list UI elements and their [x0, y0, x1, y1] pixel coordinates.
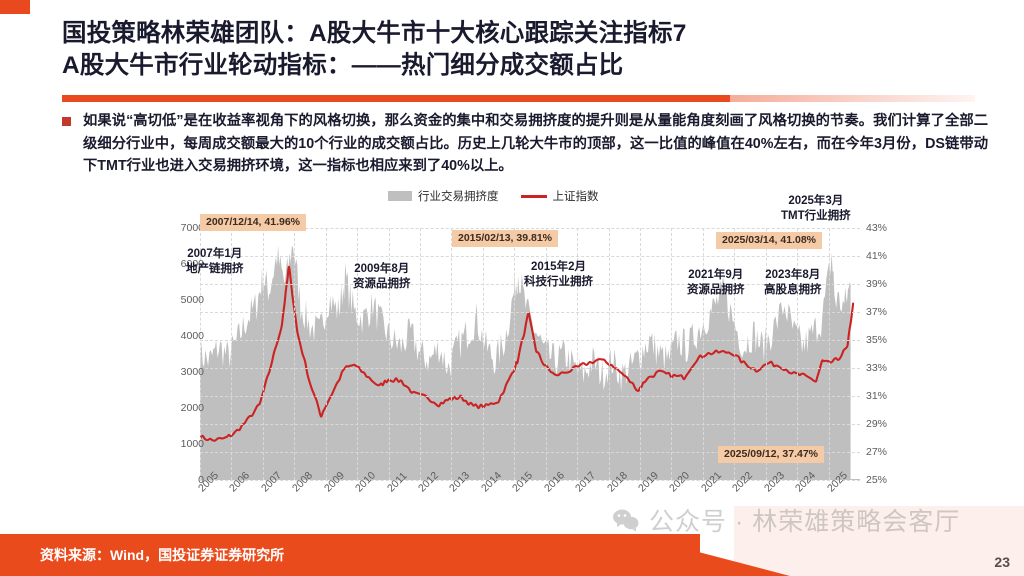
chart-annotation-label: 2023年8月高股息拥挤 — [764, 268, 822, 298]
gridline-vertical — [420, 228, 421, 480]
gridline-vertical — [671, 228, 672, 480]
legend-label-area: 行业交易拥挤度 — [418, 188, 499, 204]
top-bar-accent — [0, 0, 30, 14]
chart-legend: 行业交易拥挤度 上证指数 — [388, 188, 599, 204]
chart-annotation-label: 2025年3月TMT行业拥挤 — [781, 194, 851, 224]
chart-annotation-line1: 2025年3月 — [781, 194, 851, 209]
slide-root: 国投策略林荣雄团队：A股大牛市十大核心跟踪关注指标7 A股大牛市行业轮动指标：—… — [0, 0, 1024, 576]
y-axis-left-tick: 1000 — [158, 438, 204, 450]
wechat-icon — [612, 508, 640, 532]
body-paragraph-text: 如果说“高切低”是在收益率视角下的风格切换，那么资金的集中和交易拥挤度的提升则是… — [83, 110, 988, 178]
title-line-1: 国投策略林荣雄团队：A股大牛市十大核心跟踪关注指标7 — [62, 18, 962, 50]
y-axis-right-tick: 39% — [866, 278, 912, 290]
wechat-icon-glyph — [612, 508, 640, 532]
chart-annotation-line2: 资源品拥挤 — [353, 277, 411, 292]
y-axis-left-tick: 3000 — [158, 366, 204, 378]
y-axis-right-tick: 41% — [866, 250, 912, 262]
title-underline — [62, 95, 730, 102]
legend-line-swatch-icon — [521, 195, 547, 198]
gridline-horizontal — [200, 340, 860, 341]
chart-annotation-label: 2015年2月科技行业拥挤 — [524, 260, 593, 290]
chart-annotation-line2: 科技行业拥挤 — [524, 275, 593, 290]
chart-annotation-line1: 2015年2月 — [524, 260, 593, 275]
y-axis-right-tick: 33% — [866, 362, 912, 374]
gridline-vertical — [451, 228, 452, 480]
page-number: 23 — [994, 554, 1010, 570]
gridline-horizontal — [200, 368, 860, 369]
gridline-horizontal — [200, 312, 860, 313]
legend-item-line: 上证指数 — [521, 188, 599, 204]
page-title: 国投策略林荣雄团队：A股大牛市十大核心跟踪关注指标7 A股大牛市行业轮动指标：—… — [62, 18, 962, 82]
y-axis-left-tick: 5000 — [158, 294, 204, 306]
gridline-vertical — [514, 228, 515, 480]
title-underline-fade — [730, 95, 975, 102]
gridline-horizontal — [200, 396, 860, 397]
watermark: 公众号 · 林荣雄策略会客厅 — [612, 502, 960, 538]
bullet-square-icon — [62, 117, 71, 126]
chart-annotation-label: 2007年1月地产链拥挤 — [186, 247, 244, 277]
chart-annotation-label: 2009年8月资源品拥挤 — [353, 262, 411, 292]
left-edge-strip — [0, 0, 30, 576]
gridline-vertical — [640, 228, 641, 480]
gridline-horizontal — [200, 256, 860, 257]
chart-annotation-line1: 2021年9月 — [687, 268, 745, 283]
y-axis-right-tick: 31% — [866, 390, 912, 402]
chart-annotation-line1: 2007年1月 — [186, 247, 244, 262]
y-axis-right-tick: 25% — [866, 474, 912, 486]
legend-area-swatch-icon — [388, 191, 412, 201]
chart-annotation-line1: 2023年8月 — [764, 268, 822, 283]
chart-annotation-line2: 地产链拥挤 — [186, 262, 244, 277]
y-axis-left-tick: 7000 — [158, 222, 204, 234]
chart-annotation-line2: 高股息拥挤 — [764, 283, 822, 298]
chart-callout-label: 2015/02/13, 39.81% — [452, 230, 558, 247]
gridline-vertical — [829, 228, 830, 480]
body-paragraph: 如果说“高切低”是在收益率视角下的风格切换，那么资金的集中和交易拥挤度的提升则是… — [62, 110, 992, 178]
gridline-vertical — [294, 228, 295, 480]
chart-annotation-label: 2021年9月资源品拥挤 — [687, 268, 745, 298]
y-axis-right-tick: 27% — [866, 446, 912, 458]
footer-source-text: 资料来源：Wind，国投证券证券研究所 — [40, 545, 284, 565]
gridline-vertical — [483, 228, 484, 480]
y-axis-left-tick: 4000 — [158, 330, 204, 342]
chart-callout-label: 2025/09/12, 37.47% — [718, 446, 824, 463]
chart-callout-label: 2007/12/14, 41.96% — [200, 214, 306, 231]
gridline-vertical — [734, 228, 735, 480]
footer-band: 资料来源：Wind，国投证券证券研究所 23 — [0, 534, 1024, 576]
title-line-2: A股大牛市行业轮动指标：——热门细分成交额占比 — [62, 50, 962, 82]
watermark-text: 公众号 · 林荣雄策略会客厅 — [649, 502, 960, 538]
legend-item-area: 行业交易拥挤度 — [388, 188, 499, 204]
legend-label-line: 上证指数 — [553, 188, 599, 204]
y-axis-right-tick: 43% — [866, 222, 912, 234]
chart-annotation-line2: TMT行业拥挤 — [781, 209, 851, 224]
y-axis-right-tick: 29% — [866, 418, 912, 430]
top-bar-white — [30, 0, 1024, 14]
gridline-vertical — [703, 228, 704, 480]
y-axis-left-tick: 2000 — [158, 402, 204, 414]
gridline-vertical — [326, 228, 327, 480]
gridline-vertical — [797, 228, 798, 480]
chart-callout-label: 2025/03/14, 41.08% — [716, 232, 822, 249]
gridline-vertical — [609, 228, 610, 480]
gridline-horizontal — [200, 424, 860, 425]
gridline-vertical — [766, 228, 767, 480]
gridline-vertical — [263, 228, 264, 480]
y-axis-right-tick: 37% — [866, 306, 912, 318]
y-axis-right-tick: 35% — [866, 334, 912, 346]
chart-annotation-line1: 2009年8月 — [353, 262, 411, 277]
chart-annotation-line2: 资源品拥挤 — [687, 283, 745, 298]
